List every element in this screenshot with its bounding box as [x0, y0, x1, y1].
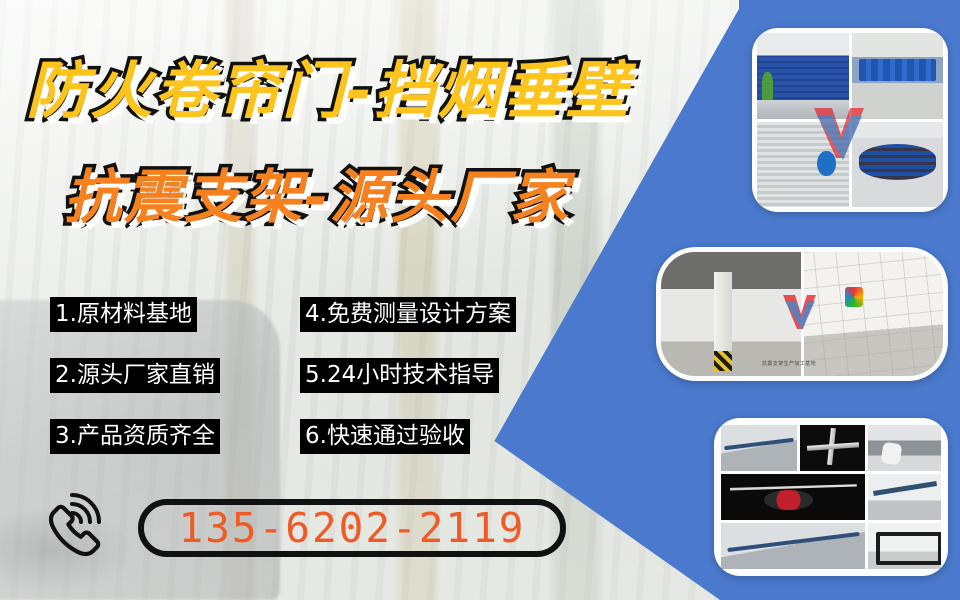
- photo-ceiling-pipe-bracing: [721, 425, 797, 471]
- feature-item-4: 4.免费测量设计方案: [300, 297, 516, 332]
- photo-bracket-clamp-detail: [800, 425, 865, 471]
- photo-parking-garage: [661, 252, 801, 376]
- contact-row: 135-6202-2119: [40, 492, 566, 564]
- feature-item-5: 5.24小时技术指导: [300, 358, 499, 393]
- fire-shutter-product-collage: [752, 28, 948, 212]
- headline-secondary: 抗震支架-源头厂家: [64, 150, 570, 234]
- advertisement-poster: 防火卷帘门-挡烟垂壁 抗震支架-源头厂家 1.原材料基地 4.免费测量设计方案 …: [0, 0, 960, 600]
- seismic-bracing-collage: [714, 418, 948, 576]
- feature-item-2: 2.源头厂家直销: [50, 358, 220, 393]
- photo-suspended-duct: [868, 474, 941, 520]
- photo-pipe-clamp: [868, 425, 941, 471]
- phone-ringing-icon: [40, 492, 112, 564]
- photo-ceiling-installation: [804, 252, 944, 376]
- phone-number-text: 135-6202-2119: [179, 508, 526, 549]
- phone-number-pill[interactable]: 135-6202-2119: [138, 499, 566, 557]
- headline-primary: 防火卷帘门-挡烟垂壁: [26, 40, 630, 130]
- photo-grey-shutter: [757, 122, 849, 208]
- feature-item-3: 3.产品资质齐全: [50, 419, 220, 454]
- photo-roll-forming-machine: [852, 33, 944, 119]
- photo-fan-bracing: [721, 474, 865, 520]
- photo-blue-fire-shutter: [757, 33, 849, 119]
- photo-trapeze-frame: [868, 523, 941, 569]
- feature-list: 1.原材料基地 4.免费测量设计方案 2.源头厂家直销 5.24小时技术指导 3…: [50, 297, 516, 454]
- feature-item-1: 1.原材料基地: [50, 297, 197, 332]
- collage-watermark-caption: 抗震支架生产加工基地: [762, 360, 816, 367]
- photo-shutter-drum: [852, 122, 944, 208]
- photo-hanger-rod-assembly: [721, 523, 865, 569]
- feature-item-6: 6.快速通过验收: [300, 419, 470, 454]
